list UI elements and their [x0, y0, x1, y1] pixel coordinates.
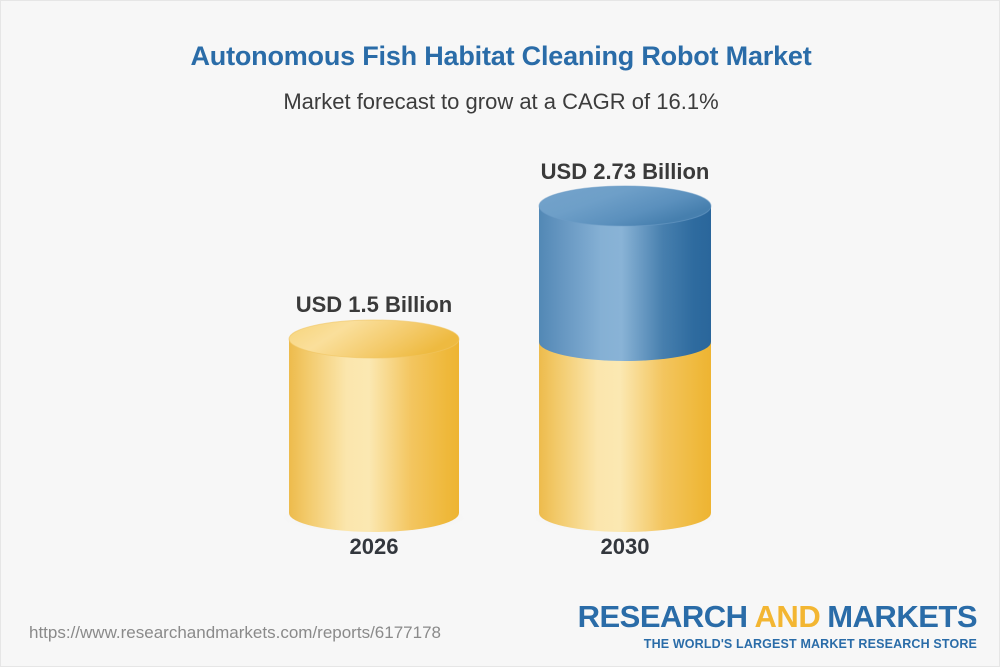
bar-body-base [289, 339, 459, 532]
category-label-2030: 2030 [525, 534, 725, 560]
bar-body-growth [539, 206, 711, 361]
logo-wordmark: RESEARCHANDMARKETS [578, 601, 977, 632]
logo-word-markets: MARKETS [827, 599, 977, 634]
plot-area: USD 1.5 Billion USD 2.73 Billion 2026 20… [1, 1, 1000, 601]
bar-2026[interactable] [282, 320, 466, 533]
value-label-2030: USD 2.73 Billion [525, 159, 725, 185]
category-label-2026: 2026 [274, 534, 474, 560]
logo-tagline: THE WORLD'S LARGEST MARKET RESEARCH STOR… [578, 638, 977, 651]
cylinder-bar-chart [1, 1, 1000, 601]
logo-word-research: RESEARCH [578, 599, 748, 634]
source-url[interactable]: https://www.researchandmarkets.com/repor… [29, 623, 441, 643]
bar-2030[interactable] [533, 186, 717, 533]
logo-word-and: AND [755, 599, 821, 634]
research-and-markets-logo[interactable]: RESEARCHANDMARKETS THE WORLD'S LARGEST M… [578, 601, 977, 651]
chart-canvas: Autonomous Fish Habitat Cleaning Robot M… [0, 0, 1000, 667]
value-label-2026: USD 1.5 Billion [274, 292, 474, 318]
bar-body-base [539, 341, 711, 532]
